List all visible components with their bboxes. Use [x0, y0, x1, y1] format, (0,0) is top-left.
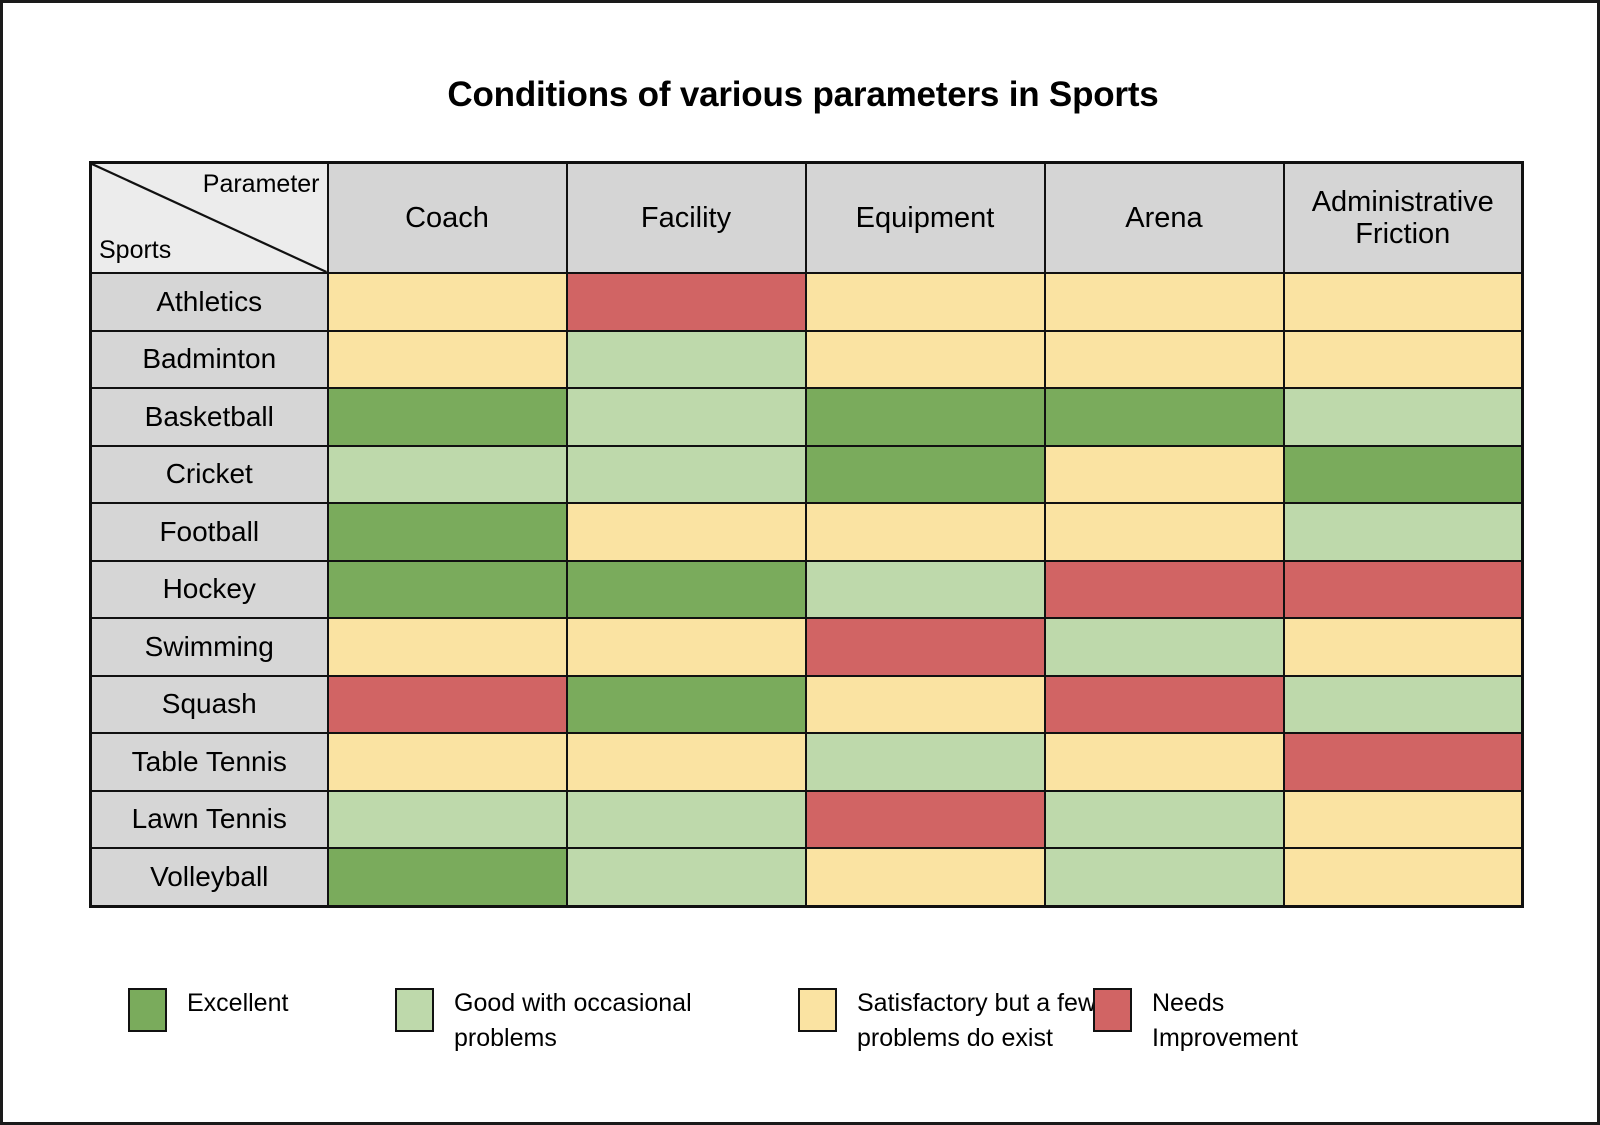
- cell-table-tennis-administrative-friction: [1284, 733, 1523, 791]
- cell-cricket-coach: [328, 446, 567, 504]
- page-root: Conditions of various parameters in Spor…: [0, 0, 1600, 1125]
- cell-football-facility: [567, 503, 806, 561]
- cell-lawn-tennis-arena: [1045, 791, 1284, 849]
- cell-swimming-facility: [567, 618, 806, 676]
- table-row: Cricket: [91, 446, 1523, 504]
- cell-badminton-coach: [328, 331, 567, 389]
- row-header-table-tennis: Table Tennis: [91, 733, 328, 791]
- cell-lawn-tennis-coach: [328, 791, 567, 849]
- table-row: Lawn Tennis: [91, 791, 1523, 849]
- cell-basketball-arena: [1045, 388, 1284, 446]
- cell-hockey-administrative-friction: [1284, 561, 1523, 619]
- legend: Excellent Good with occasional problems …: [3, 963, 1600, 1073]
- legend-item-excellent: Excellent: [128, 986, 288, 1032]
- cell-basketball-administrative-friction: [1284, 388, 1523, 446]
- row-header-volleyball: Volleyball: [91, 848, 328, 906]
- cell-athletics-arena: [1045, 273, 1284, 331]
- row-header-football: Football: [91, 503, 328, 561]
- legend-swatch-good: [395, 988, 434, 1032]
- matrix-header: Parameter Sports Coach Facility Equipmen…: [91, 163, 1523, 274]
- cell-cricket-equipment: [806, 446, 1045, 504]
- legend-item-good: Good with occasional problems: [395, 986, 692, 1055]
- conditions-matrix-table: Parameter Sports Coach Facility Equipmen…: [89, 161, 1524, 908]
- cell-lawn-tennis-facility: [567, 791, 806, 849]
- cell-hockey-facility: [567, 561, 806, 619]
- column-header-equipment: Equipment: [806, 163, 1045, 274]
- cell-badminton-arena: [1045, 331, 1284, 389]
- cell-athletics-facility: [567, 273, 806, 331]
- cell-cricket-facility: [567, 446, 806, 504]
- header-row: Parameter Sports Coach Facility Equipmen…: [91, 163, 1523, 274]
- cell-football-administrative-friction: [1284, 503, 1523, 561]
- cell-volleyball-coach: [328, 848, 567, 906]
- cell-volleyball-equipment: [806, 848, 1045, 906]
- cell-table-tennis-facility: [567, 733, 806, 791]
- cell-badminton-equipment: [806, 331, 1045, 389]
- cell-badminton-administrative-friction: [1284, 331, 1523, 389]
- cell-athletics-equipment: [806, 273, 1045, 331]
- row-header-squash: Squash: [91, 676, 328, 734]
- legend-swatch-needs-improvement: [1093, 988, 1132, 1032]
- table-row: Badminton: [91, 331, 1523, 389]
- row-header-badminton: Badminton: [91, 331, 328, 389]
- legend-item-needs-improvement: Needs Improvement: [1093, 986, 1298, 1055]
- table-row: Table Tennis: [91, 733, 1523, 791]
- table-row: Basketball: [91, 388, 1523, 446]
- column-header-administrative-friction: Administrative Friction: [1284, 163, 1523, 274]
- table-row: Squash: [91, 676, 1523, 734]
- cell-hockey-arena: [1045, 561, 1284, 619]
- cell-basketball-equipment: [806, 388, 1045, 446]
- cell-football-coach: [328, 503, 567, 561]
- cell-basketball-coach: [328, 388, 567, 446]
- cell-squash-facility: [567, 676, 806, 734]
- table-row: Volleyball: [91, 848, 1523, 906]
- table-row: Athletics: [91, 273, 1523, 331]
- cell-swimming-equipment: [806, 618, 1045, 676]
- row-header-cricket: Cricket: [91, 446, 328, 504]
- row-header-athletics: Athletics: [91, 273, 328, 331]
- matrix-table-container: Parameter Sports Coach Facility Equipmen…: [89, 161, 1521, 879]
- cell-athletics-coach: [328, 273, 567, 331]
- column-header-facility: Facility: [567, 163, 806, 274]
- row-header-basketball: Basketball: [91, 388, 328, 446]
- legend-label-good: Good with occasional problems: [454, 986, 692, 1055]
- legend-label-excellent: Excellent: [187, 986, 288, 1021]
- cell-hockey-equipment: [806, 561, 1045, 619]
- cell-table-tennis-coach: [328, 733, 567, 791]
- cell-squash-equipment: [806, 676, 1045, 734]
- legend-label-needs-improvement: Needs Improvement: [1152, 986, 1298, 1055]
- table-row: Football: [91, 503, 1523, 561]
- legend-swatch-excellent: [128, 988, 167, 1032]
- table-row: Swimming: [91, 618, 1523, 676]
- legend-item-satisfactory: Satisfactory but a few problems do exist: [798, 986, 1096, 1055]
- matrix-body: AthleticsBadmintonBasketballCricketFootb…: [91, 273, 1523, 906]
- cell-lawn-tennis-administrative-friction: [1284, 791, 1523, 849]
- cell-athletics-administrative-friction: [1284, 273, 1523, 331]
- cell-volleyball-arena: [1045, 848, 1284, 906]
- row-header-hockey: Hockey: [91, 561, 328, 619]
- row-header-swimming: Swimming: [91, 618, 328, 676]
- cell-squash-administrative-friction: [1284, 676, 1523, 734]
- cell-swimming-administrative-friction: [1284, 618, 1523, 676]
- cell-badminton-facility: [567, 331, 806, 389]
- cell-table-tennis-equipment: [806, 733, 1045, 791]
- cell-cricket-arena: [1045, 446, 1284, 504]
- legend-label-satisfactory: Satisfactory but a few problems do exist: [857, 986, 1096, 1055]
- legend-swatch-satisfactory: [798, 988, 837, 1032]
- cell-cricket-administrative-friction: [1284, 446, 1523, 504]
- column-header-arena: Arena: [1045, 163, 1284, 274]
- axis-corner-cell: Parameter Sports: [91, 163, 328, 274]
- column-axis-label: Parameter: [203, 170, 320, 199]
- cell-squash-arena: [1045, 676, 1284, 734]
- cell-hockey-coach: [328, 561, 567, 619]
- cell-volleyball-administrative-friction: [1284, 848, 1523, 906]
- cell-squash-coach: [328, 676, 567, 734]
- row-header-lawn-tennis: Lawn Tennis: [91, 791, 328, 849]
- cell-table-tennis-arena: [1045, 733, 1284, 791]
- row-axis-label: Sports: [99, 236, 171, 265]
- cell-swimming-arena: [1045, 618, 1284, 676]
- cell-football-arena: [1045, 503, 1284, 561]
- table-row: Hockey: [91, 561, 1523, 619]
- cell-lawn-tennis-equipment: [806, 791, 1045, 849]
- cell-volleyball-facility: [567, 848, 806, 906]
- cell-basketball-facility: [567, 388, 806, 446]
- page-title: Conditions of various parameters in Spor…: [3, 75, 1600, 115]
- column-header-coach: Coach: [328, 163, 567, 274]
- cell-football-equipment: [806, 503, 1045, 561]
- cell-swimming-coach: [328, 618, 567, 676]
